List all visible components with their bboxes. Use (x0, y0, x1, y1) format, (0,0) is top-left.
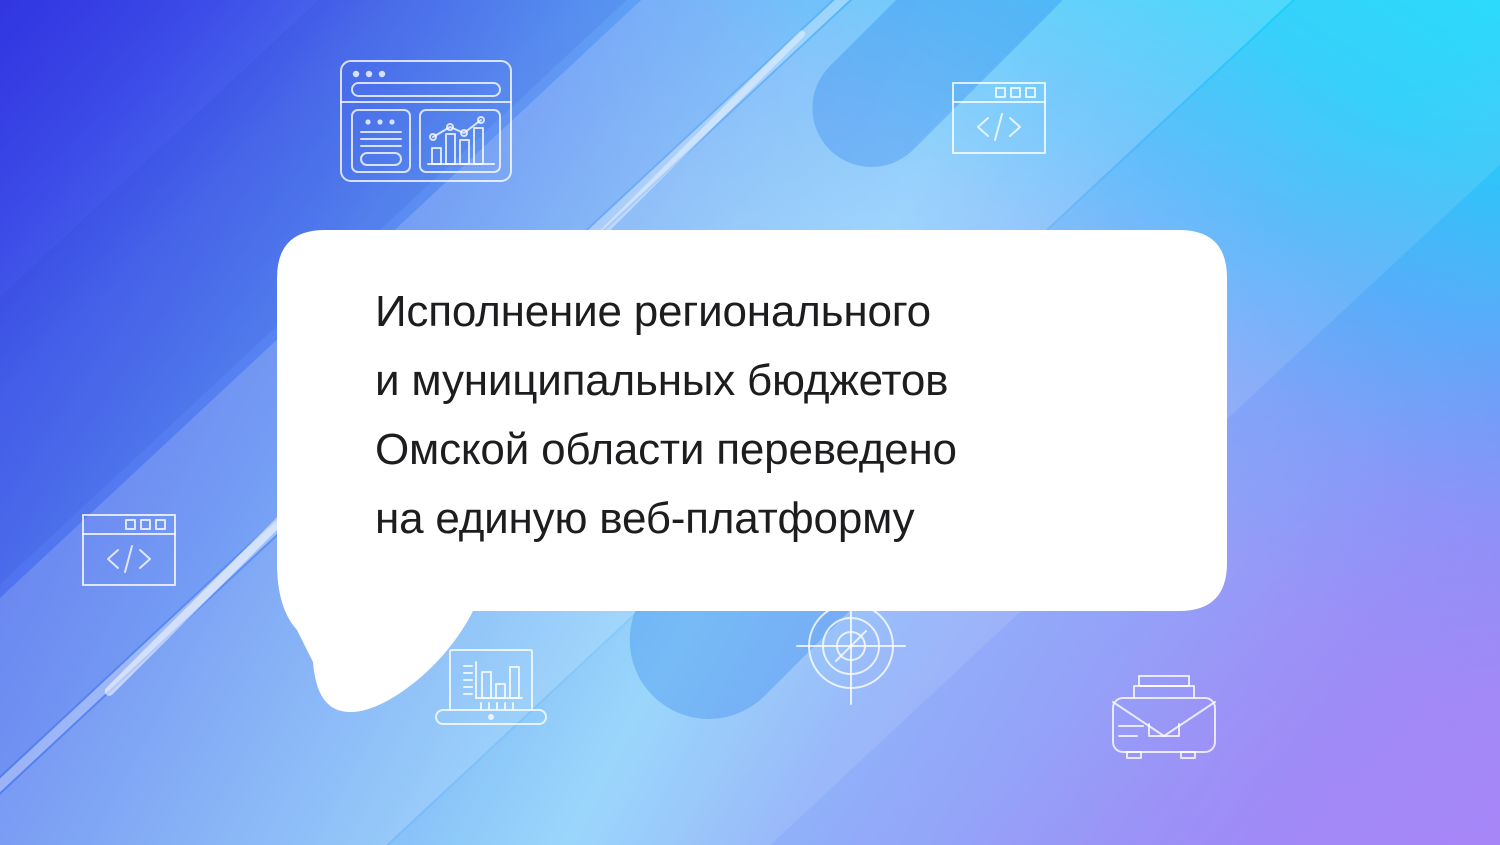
page-title: Исполнение регионального и муниципальных… (375, 277, 1175, 553)
banner-canvas: Исполнение регионального и муниципальных… (0, 0, 1500, 845)
